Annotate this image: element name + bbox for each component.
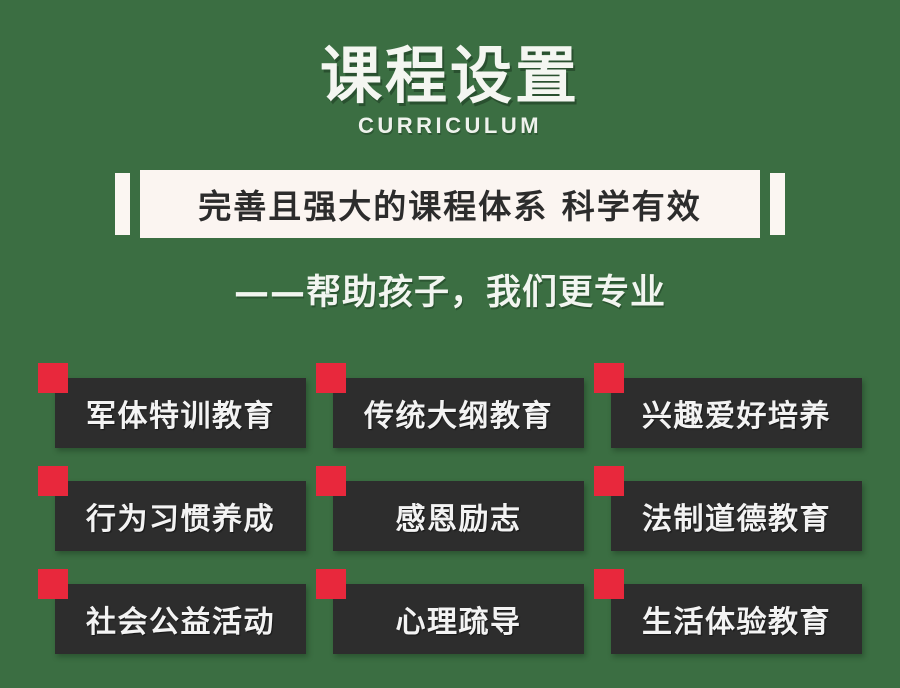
- curriculum-card[interactable]: 感恩励志: [316, 466, 584, 551]
- curriculum-card[interactable]: 社会公益活动: [38, 569, 306, 654]
- curriculum-card-label: 生活体验教育: [642, 597, 831, 641]
- red-square-icon: [38, 569, 68, 599]
- red-square-icon: [316, 569, 346, 599]
- curriculum-card-label: 感恩励志: [396, 494, 522, 538]
- curriculum-card[interactable]: 军体特训教育: [38, 363, 306, 448]
- curriculum-card-body[interactable]: 感恩励志: [333, 481, 584, 551]
- red-square-icon: [316, 363, 346, 393]
- red-square-icon: [594, 569, 624, 599]
- curriculum-card-label: 心理疏导: [396, 597, 522, 641]
- page-title: 课程设置: [0, 44, 900, 107]
- curriculum-card-label: 兴趣爱好培养: [642, 391, 831, 435]
- curriculum-card-body[interactable]: 军体特训教育: [55, 378, 306, 448]
- curriculum-card-label: 行为习惯养成: [86, 494, 275, 538]
- curriculum-poster: 课程设置 CURRICULUM 完善且强大的课程体系 科学有效 ——帮助孩子，我…: [0, 0, 900, 688]
- page-subtitle-english: CURRICULUM: [0, 113, 900, 139]
- red-square-icon: [594, 466, 624, 496]
- curriculum-card-grid: 军体特训教育 传统大纲教育 兴趣爱好培养 行为习惯养成 感恩励志: [38, 363, 862, 654]
- curriculum-card-label: 军体特训教育: [86, 391, 275, 435]
- poster-header: 课程设置 CURRICULUM: [0, 0, 900, 139]
- tagline: ——帮助孩子，我们更专业: [0, 264, 900, 315]
- red-square-icon: [594, 363, 624, 393]
- curriculum-card[interactable]: 行为习惯养成: [38, 466, 306, 551]
- curriculum-card-body[interactable]: 法制道德教育: [611, 481, 862, 551]
- curriculum-card-body[interactable]: 心理疏导: [333, 584, 584, 654]
- banner-left-tick: [115, 173, 130, 235]
- curriculum-card-label: 传统大纲教育: [364, 391, 553, 435]
- red-square-icon: [38, 363, 68, 393]
- red-square-icon: [38, 466, 68, 496]
- banner-row: 完善且强大的课程体系 科学有效: [0, 170, 900, 238]
- banner-text: 完善且强大的课程体系 科学有效: [198, 180, 702, 228]
- curriculum-card-body[interactable]: 传统大纲教育: [333, 378, 584, 448]
- curriculum-card-label: 社会公益活动: [86, 597, 275, 641]
- curriculum-card-body[interactable]: 社会公益活动: [55, 584, 306, 654]
- curriculum-card-body[interactable]: 生活体验教育: [611, 584, 862, 654]
- curriculum-card[interactable]: 法制道德教育: [594, 466, 862, 551]
- banner-right-tick: [770, 173, 785, 235]
- red-square-icon: [316, 466, 346, 496]
- curriculum-card[interactable]: 生活体验教育: [594, 569, 862, 654]
- curriculum-card-label: 法制道德教育: [642, 494, 831, 538]
- curriculum-card[interactable]: 兴趣爱好培养: [594, 363, 862, 448]
- curriculum-card[interactable]: 心理疏导: [316, 569, 584, 654]
- banner-box: 完善且强大的课程体系 科学有效: [140, 170, 760, 238]
- curriculum-card-body[interactable]: 行为习惯养成: [55, 481, 306, 551]
- curriculum-card[interactable]: 传统大纲教育: [316, 363, 584, 448]
- curriculum-card-body[interactable]: 兴趣爱好培养: [611, 378, 862, 448]
